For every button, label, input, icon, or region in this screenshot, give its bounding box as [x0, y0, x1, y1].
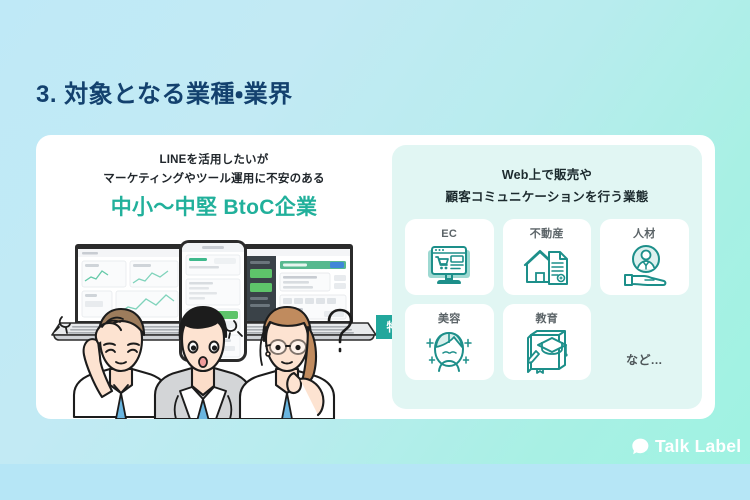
left-target-section: LINEを活用したいが マーケティングやツール運用に不安のある 中小〜中堅 Bt… [36, 135, 392, 419]
page-title: 3. 対象となる業種・業界 [36, 74, 293, 109]
beauty-face-icon [425, 329, 473, 375]
lead-text-line-1: LINEを活用したいが [36, 151, 392, 167]
industry-card-label: 不動産 [530, 227, 564, 241]
person-on-hand-icon [620, 244, 668, 290]
industry-card-hr[interactable]: 人材 [600, 219, 689, 295]
graduation-book-icon [523, 329, 571, 375]
industry-card-label: 美容 [438, 312, 461, 326]
slide-background: 3. 対象となる業種・業界 LINEを活用したいが マーケティングやツール運用に… [0, 0, 750, 500]
industry-card-row-2: 美容 [405, 304, 689, 380]
industry-card-real-estate[interactable]: 不動産 [503, 219, 592, 295]
main-content-card: LINEを活用したいが マーケティングやツール運用に不安のある 中小〜中堅 Bt… [36, 135, 715, 419]
etcetera-label: など... [600, 304, 689, 380]
brand-logo: Talk Label [632, 435, 741, 457]
industry-card-beauty[interactable]: 美容 [405, 304, 494, 380]
industry-card-label: 教育 [535, 312, 558, 326]
monitor-cart-icon [425, 244, 473, 290]
lead-text-line-2: マーケティングやツール運用に不安のある [36, 170, 392, 186]
industry-card-label: 人材 [633, 227, 656, 241]
house-document-icon [523, 244, 571, 290]
brand-logo-text: Talk Label [655, 438, 741, 455]
industry-card-row-1: EC [405, 219, 689, 295]
industry-card-education[interactable]: 教育 [503, 304, 592, 380]
target-industries-panel: Web上で販売や 顧客コミュニケーションを行う業態 EC [392, 145, 702, 409]
target-headline: 中小〜中堅 BtoC企業 [36, 191, 392, 221]
footer-band [0, 464, 750, 500]
industry-card-label: EC [441, 227, 457, 241]
devices-and-worried-people-illustration [42, 221, 386, 419]
panel-heading-line-2: 顧客コミュニケーションを行う業態 [392, 186, 702, 205]
speech-bubble-icon [632, 438, 649, 455]
industry-card-ec[interactable]: EC [405, 219, 494, 295]
panel-heading-line-1: Web上で販売や [392, 164, 702, 183]
industry-card-grid: EC [405, 219, 689, 389]
